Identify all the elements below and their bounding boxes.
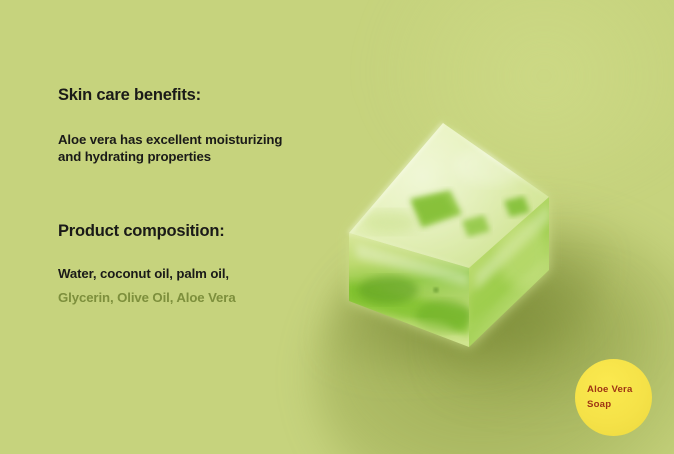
- product-badge[interactable]: Aloe Vera Soap: [575, 359, 652, 436]
- composition-line-2: Glycerin, Olive Oil, Aloe Vera: [58, 289, 308, 306]
- soap-front-face: [318, 104, 618, 394]
- product-shadow: [312, 233, 611, 386]
- benefits-body: Aloe vera has excellent moisturizing and…: [58, 131, 308, 166]
- spacer: [58, 166, 308, 222]
- aloe-chunk-small-1: [462, 215, 490, 237]
- soap-right-face: [469, 197, 549, 347]
- aloe-chunk-large-core: [413, 195, 454, 223]
- composition-line-1: Water, coconut oil, palm oil,: [58, 265, 308, 282]
- product-poster: Skin care benefits: Aloe vera has excell…: [0, 0, 674, 454]
- benefits-heading: Skin care benefits:: [58, 86, 308, 106]
- aloe-band-front: [346, 282, 470, 336]
- badge-line-2: Soap: [587, 398, 611, 412]
- copy-column: Skin care benefits: Aloe vera has excell…: [58, 86, 308, 306]
- soap-body-glow: [349, 123, 549, 347]
- background-highlight: [374, 0, 674, 180]
- soap-edge-highlights: [349, 123, 549, 347]
- badge-line-1: Aloe Vera: [587, 383, 633, 397]
- product-image: [318, 104, 618, 394]
- composition-heading: Product composition:: [58, 222, 308, 242]
- aloe-band-right: [469, 226, 549, 326]
- spacer: [58, 106, 308, 131]
- spacer: [58, 241, 308, 265]
- aloe-chunk-large: [410, 190, 462, 228]
- aloe-chunk-small-2: [504, 196, 530, 217]
- soap-bar-illustration: [318, 104, 618, 394]
- soap-top-face: [318, 104, 618, 394]
